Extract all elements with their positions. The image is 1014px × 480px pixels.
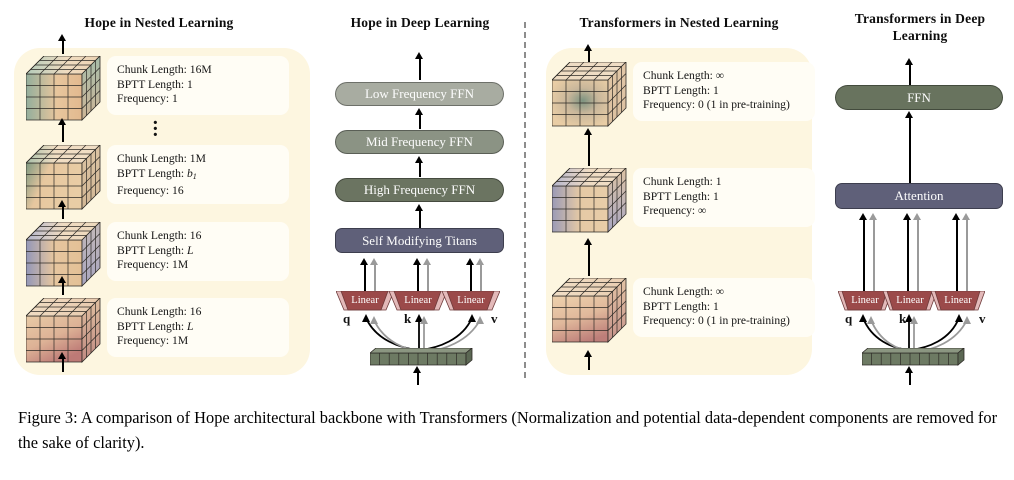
cube-t-level-3: [552, 278, 628, 344]
level-2-bptt-length: BPTT Length: b1: [117, 167, 289, 185]
level-3-bptt-length: BPTT Length: L: [117, 244, 289, 259]
level-1-bptt-length: BPTT Length: 1: [117, 78, 289, 93]
t-level-3-bptt-length: BPTT Length: 1: [643, 300, 815, 315]
level-2-chunk-length: Chunk Length: 1M: [117, 152, 289, 167]
t-level-2-bptt-length: BPTT Length: 1: [643, 190, 815, 205]
t-level-3-frequency: Frequency: 0 (1 in pre-training): [643, 314, 815, 329]
panel-title-transformers-deep-learning: Transformers in Deep Learning: [840, 10, 1000, 44]
level-1-chunk-length: Chunk Length: 16M: [117, 63, 289, 78]
stage-self-modifying-titans[interactable]: Self Modifying Titans: [335, 228, 504, 253]
level-1-frequency: Frequency: 1: [117, 92, 289, 107]
stage-high-frequency-ffn-label: High Frequency FFN: [364, 182, 475, 198]
figure-caption: Figure 3: A comparison of Hope architect…: [18, 405, 998, 455]
infobox-level-2: Chunk Length: 1M BPTT Length: b1 Frequen…: [107, 145, 289, 204]
stage-low-frequency-ffn[interactable]: Low Frequency FFN: [335, 82, 504, 106]
infobox-level-1: Chunk Length: 16M BPTT Length: 1 Frequen…: [107, 56, 289, 115]
level-4-bptt-length: BPTT Length: L: [117, 320, 289, 335]
panel-title-hope-nested-learning: Hope in Nested Learning: [14, 14, 304, 31]
level-3-chunk-length: Chunk Length: 16: [117, 229, 289, 244]
cube-t-level-2: [552, 168, 628, 234]
t-level-1-chunk-length: Chunk Length: ∞: [643, 69, 815, 84]
stage-ffn-label: FFN: [907, 90, 931, 106]
stage-ffn[interactable]: FFN: [835, 85, 1003, 110]
level-4-chunk-length: Chunk Length: 16: [117, 305, 289, 320]
panel-title-hope-deep-learning: Hope in Deep Learning: [320, 14, 520, 31]
t-level-2-frequency: Frequency: ∞: [643, 204, 815, 219]
infobox-t-level-2: Chunk Length: 1 BPTT Length: 1 Frequency…: [633, 168, 815, 227]
stage-self-modifying-titans-label: Self Modifying Titans: [362, 233, 477, 249]
stage-attention[interactable]: Attention: [835, 183, 1003, 209]
infobox-t-level-3: Chunk Length: ∞ BPTT Length: 1 Frequency…: [633, 278, 815, 337]
t-level-3-chunk-length: Chunk Length: ∞: [643, 285, 815, 300]
panel-title-transformers-nested-learning: Transformers in Nested Learning: [545, 14, 813, 31]
panel-title-line-2: Learning: [840, 27, 1000, 44]
level-3-frequency: Frequency: 1M: [117, 258, 289, 273]
stage-low-frequency-ffn-label: Low Frequency FFN: [365, 86, 474, 102]
t-level-2-chunk-length: Chunk Length: 1: [643, 175, 815, 190]
stage-mid-frequency-ffn[interactable]: Mid Frequency FFN: [335, 130, 504, 154]
infobox-level-4: Chunk Length: 16 BPTT Length: L Frequenc…: [107, 298, 289, 357]
stage-high-frequency-ffn[interactable]: High Frequency FFN: [335, 178, 504, 202]
infobox-t-level-1: Chunk Length: ∞ BPTT Length: 1 Frequency…: [633, 62, 815, 121]
level-2-frequency: Frequency: 16: [117, 184, 289, 199]
infobox-level-3: Chunk Length: 16 BPTT Length: L Frequenc…: [107, 222, 289, 281]
cube-t-level-1: [552, 62, 628, 128]
panel-divider: [524, 22, 526, 378]
cube-level-1: [26, 56, 102, 122]
panel-title-line-1: Transformers in Deep: [840, 10, 1000, 27]
t-level-1-frequency: Frequency: 0 (1 in pre-training): [643, 98, 815, 113]
levels-ellipsis: ···: [152, 120, 159, 138]
token-bar-transformer: [862, 348, 966, 371]
stage-mid-frequency-ffn-label: Mid Frequency FFN: [366, 134, 473, 150]
t-level-1-bptt-length: BPTT Length: 1: [643, 84, 815, 99]
level-4-frequency: Frequency: 1M: [117, 334, 289, 349]
stage-attention-label: Attention: [894, 188, 943, 204]
token-bar-hope: [370, 348, 474, 371]
